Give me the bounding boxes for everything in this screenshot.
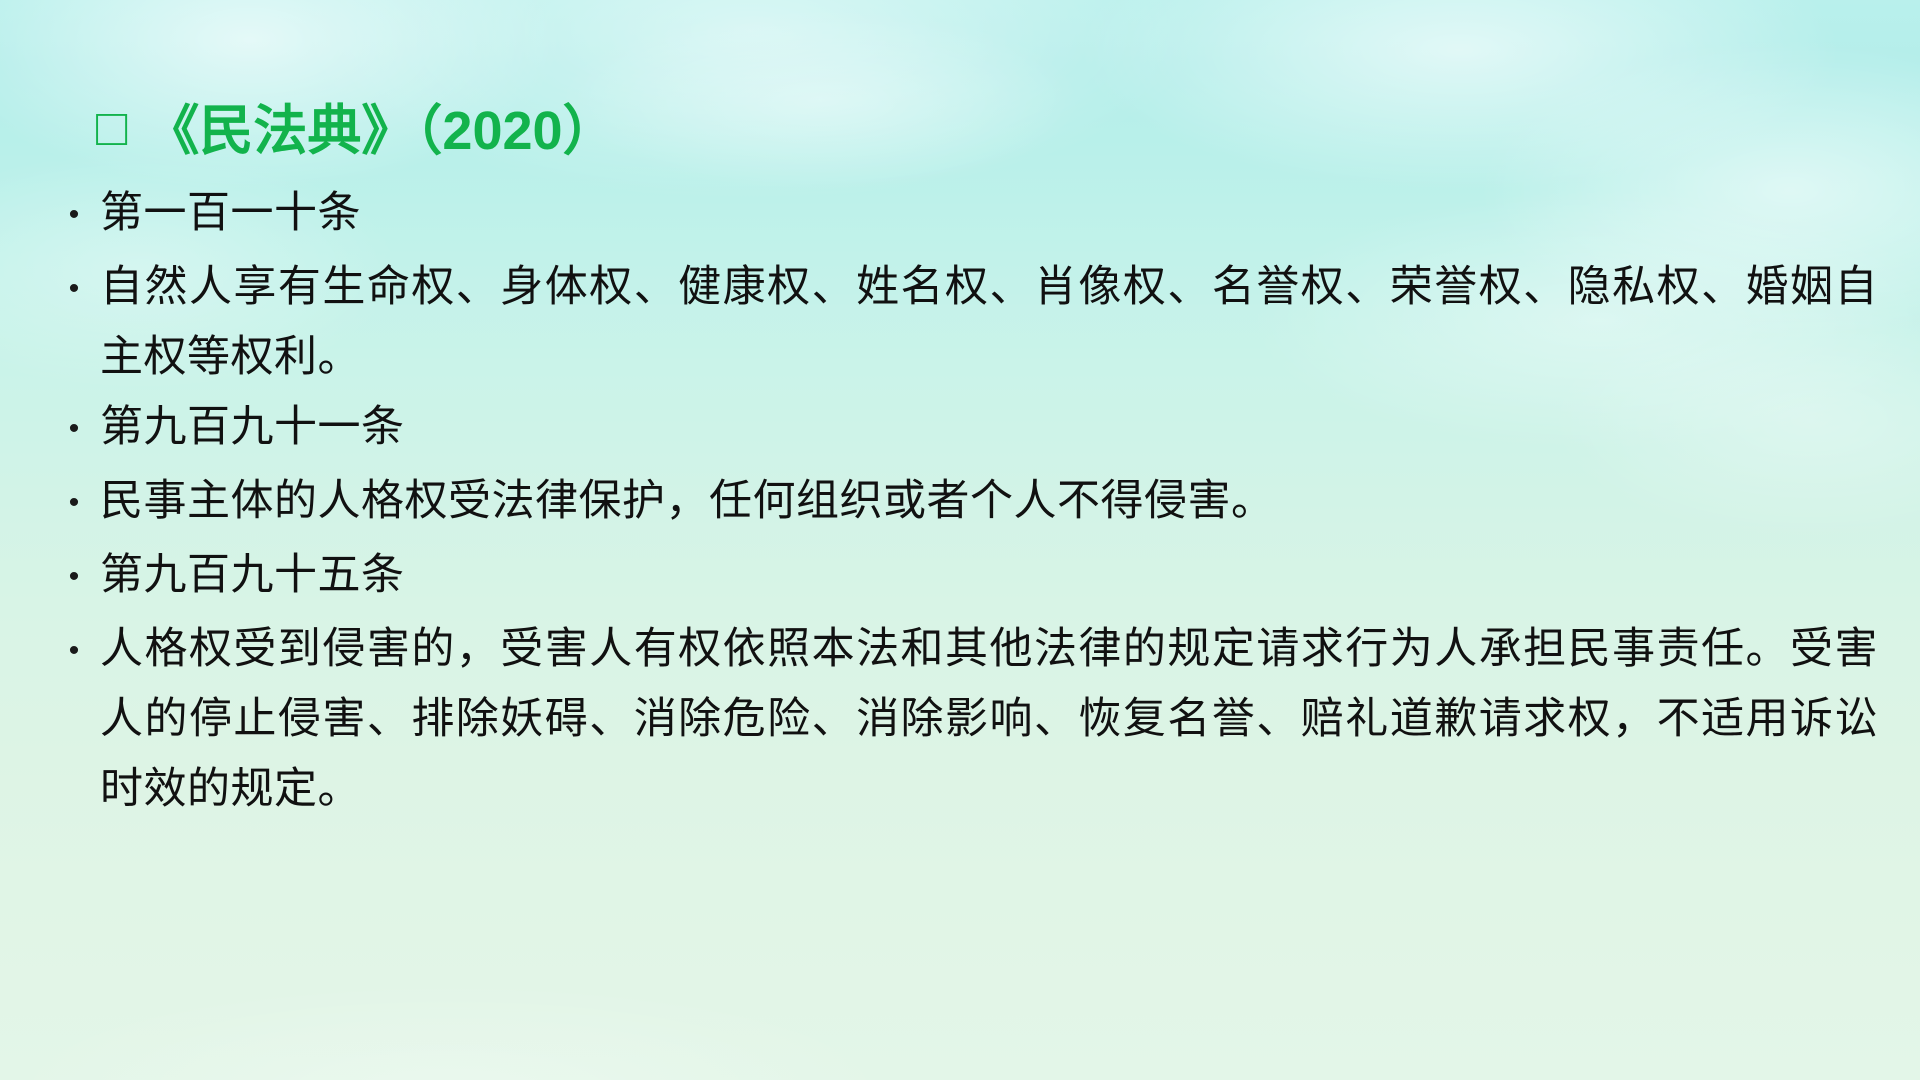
list-item-text: 第九百九十一条 <box>100 392 1878 462</box>
list-item-text: 自然人享有生命权、身体权、健康权、姓名权、肖像权、名誉权、荣誉权、隐私权、婚姻自… <box>100 252 1878 392</box>
slide-title-text: 《民法典》（2020） <box>145 86 616 165</box>
cloud-decoration <box>0 980 900 1080</box>
list-item-text: 民事主体的人格权受法律保护，任何组织或者个人不得侵害。 <box>100 466 1878 536</box>
bullet-dot-icon: • <box>48 250 100 324</box>
presentation-slide: □ 《民法典》（2020） • 第一百一十条 • 自然人享有生命权、身体权、健康… <box>0 0 1920 1080</box>
cloud-decoration <box>560 10 1080 190</box>
cloud-decoration <box>1080 0 1840 190</box>
list-item: • 自然人享有生命权、身体权、健康权、姓名权、肖像权、名誉权、荣誉权、隐私权、婚… <box>48 252 1878 392</box>
list-item: • 第九百九十五条 <box>48 540 1878 614</box>
bullet-dot-icon: • <box>48 538 100 612</box>
bullet-dot-icon: • <box>48 464 100 538</box>
list-item-text: 第一百一十条 <box>100 178 1878 248</box>
slide-title: □ 《民法典》（2020） <box>96 86 617 165</box>
square-bullet-icon: □ <box>96 102 127 154</box>
list-item: • 第九百九十一条 <box>48 392 1878 466</box>
list-item-text: 第九百九十五条 <box>100 540 1878 610</box>
bullet-dot-icon: • <box>48 390 100 464</box>
list-item-text: 人格权受到侵害的，受害人有权依照本法和其他法律的规定请求行为人承担民事责任。受害… <box>100 614 1878 824</box>
bullet-dot-icon: • <box>48 176 100 250</box>
slide-body: • 第一百一十条 • 自然人享有生命权、身体权、健康权、姓名权、肖像权、名誉权、… <box>48 178 1878 824</box>
list-item: • 第一百一十条 <box>48 178 1878 252</box>
list-item: • 人格权受到侵害的，受害人有权依照本法和其他法律的规定请求行为人承担民事责任。… <box>48 614 1878 824</box>
bullet-dot-icon: • <box>48 612 100 686</box>
list-item: • 民事主体的人格权受法律保护，任何组织或者个人不得侵害。 <box>48 466 1878 540</box>
